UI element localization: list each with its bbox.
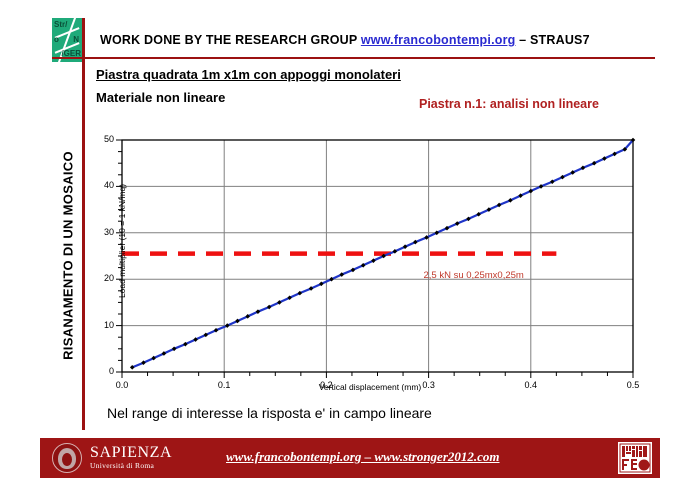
reference-line-annotation: 2,5 kN su 0,25mx0,25m	[423, 270, 523, 281]
sapienza-name: SAPIENZA	[90, 444, 172, 461]
chart-y-tick: 40	[90, 180, 114, 190]
logo-text-n: N	[73, 33, 79, 48]
chart-y-axis-label: Load multiplier (10 = 1 kN/mq)	[117, 131, 127, 351]
sapienza-emblem-icon	[52, 443, 82, 473]
subtitle-primary: Piastra quadrata 1m x1m con appoggi mono…	[96, 67, 401, 82]
logo-text-line1: Str/	[52, 18, 82, 33]
chart-y-tick: 20	[90, 273, 114, 283]
analysis-label: Piastra n.1: analisi non lineare	[419, 97, 599, 111]
emblem-inner-core	[62, 453, 72, 466]
chart-x-tick: 0.4	[511, 380, 551, 390]
header-title: WORK DONE BY THE RESEARCH GROUP www.fran…	[100, 33, 590, 47]
stronger-logo: Str/ o N /GER	[52, 18, 82, 62]
footer-link[interactable]: www.francobontempi.org – www.stronger201…	[226, 449, 500, 465]
logo-text-line3: /GER	[52, 47, 82, 62]
header-divider-rule	[52, 57, 655, 59]
chart-y-tick: 0	[90, 366, 114, 376]
logo-text-line2: o N	[52, 33, 82, 48]
chart-x-tick: 0.1	[204, 380, 244, 390]
chart-y-tick: 50	[90, 134, 114, 144]
conclusion-note: Nel range di interesse la risposta e' in…	[107, 405, 432, 421]
fbo-logo-glyph	[619, 443, 651, 473]
slide-canvas: Str/ o N /GER WORK DONE BY THE RESEARCH …	[0, 0, 700, 495]
chart-x-tick: 0.2	[306, 380, 346, 390]
chart-x-tick: 0.5	[613, 380, 653, 390]
chart-x-axis-label: Vertical displacement (mm)	[90, 382, 650, 392]
footer-bar: SAPIENZA Università di Roma www.francobo…	[40, 438, 660, 478]
logo-text-o: o	[54, 33, 59, 48]
header-title-suffix: – STRAUS7	[519, 33, 590, 47]
chart-y-tick: 30	[90, 227, 114, 237]
sapienza-subtitle: Università di Roma	[90, 461, 172, 471]
chart-y-tick: 10	[90, 320, 114, 330]
fbo-logo-icon	[618, 442, 652, 474]
load-displacement-chart: Load multiplier (10 = 1 kN/mq) Vertical …	[90, 128, 650, 396]
sapienza-wordmark: SAPIENZA Università di Roma	[90, 444, 172, 471]
header-title-link[interactable]: www.francobontempi.org	[361, 33, 516, 47]
chart-x-tick: 0.0	[102, 380, 142, 390]
chart-plot-svg	[90, 128, 650, 396]
subtitle-secondary: Materiale non lineare	[96, 90, 225, 105]
header-title-prefix: WORK DONE BY THE RESEARCH GROUP	[100, 33, 357, 47]
left-vertical-rule	[82, 18, 85, 430]
chart-x-tick: 0.3	[409, 380, 449, 390]
side-title: RISANAMENTO DI UN MOSAICO	[61, 146, 76, 366]
